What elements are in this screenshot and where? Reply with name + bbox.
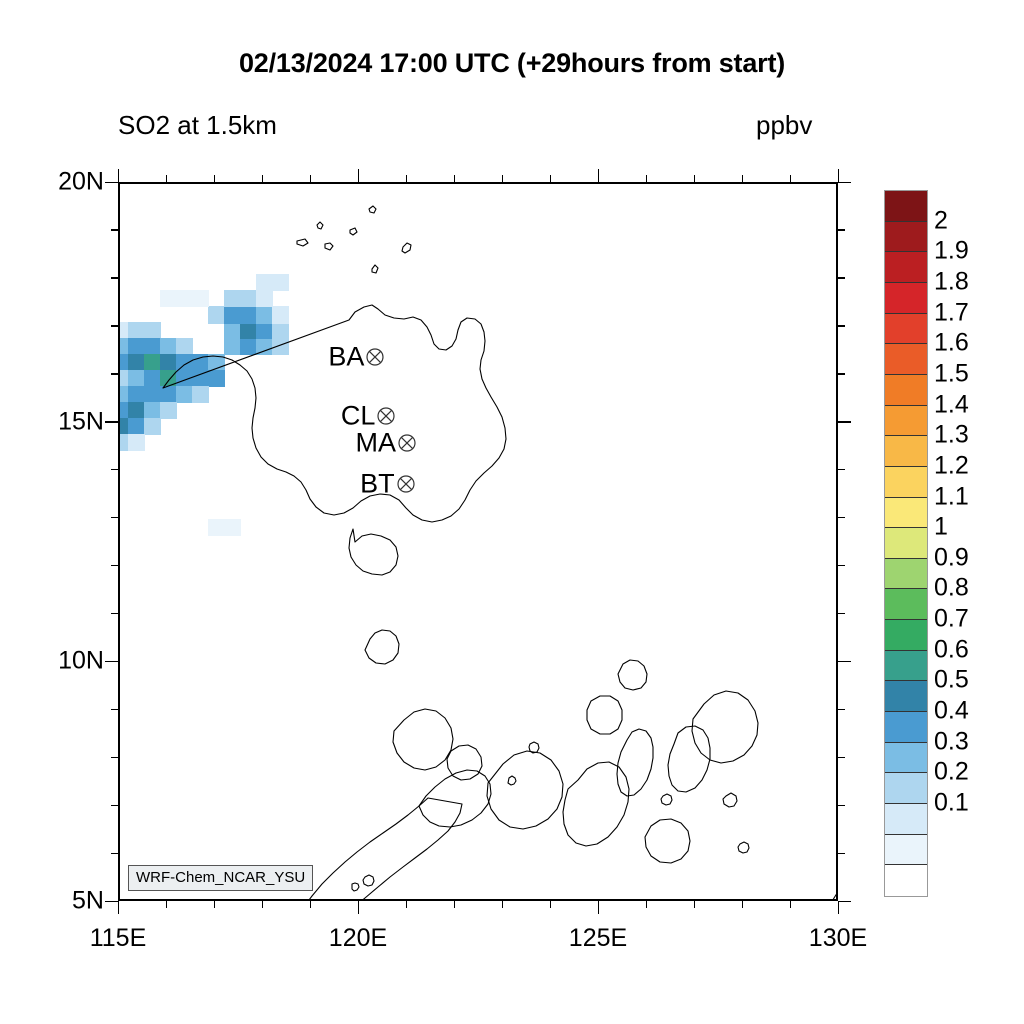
station-label-bt: BT xyxy=(360,468,395,499)
map-plot-area: WRF-Chem_NCAR_YSU BACLMABT xyxy=(118,182,838,901)
x-tick-label: 125E xyxy=(569,924,627,953)
axis-tick xyxy=(694,901,695,908)
axis-tick xyxy=(105,901,118,902)
axis-tick xyxy=(838,613,845,614)
axis-tick xyxy=(111,565,118,566)
colorbar-tick-label: 1.5 xyxy=(934,359,969,388)
axis-tick xyxy=(646,901,647,908)
station-marker-icon xyxy=(366,347,385,366)
axis-tick xyxy=(105,661,118,662)
x-tick-label: 130E xyxy=(809,924,867,953)
axis-tick xyxy=(406,175,407,182)
colorbar-tick-label: 1.6 xyxy=(934,329,969,358)
axis-tick xyxy=(358,169,359,182)
axis-tick xyxy=(111,709,118,710)
axis-tick xyxy=(838,182,851,183)
axis-tick xyxy=(262,175,263,182)
y-tick-label: 10N xyxy=(58,647,104,676)
axis-tick xyxy=(111,325,118,326)
y-tick-label: 20N xyxy=(58,168,104,197)
x-tick-label: 120E xyxy=(329,924,387,953)
axis-tick xyxy=(454,175,455,182)
axis-tick xyxy=(694,175,695,182)
station-label-ma: MA xyxy=(356,427,397,458)
colorbar-tick-label: 0.2 xyxy=(934,758,969,787)
y-axis-labels: 5N10N15N20N xyxy=(0,182,104,901)
station-label-ba: BA xyxy=(328,341,364,372)
units-label: ppbv xyxy=(756,110,812,141)
axis-tick xyxy=(111,373,118,374)
axis-tick xyxy=(111,277,118,278)
model-label-box: WRF-Chem_NCAR_YSU xyxy=(128,865,313,891)
axis-tick xyxy=(838,469,845,470)
axis-tick xyxy=(550,901,551,908)
axis-tick xyxy=(838,517,845,518)
axis-tick xyxy=(214,175,215,182)
colorbar-tick-label: 0.6 xyxy=(934,635,969,664)
colorbar-tick-label: 1.4 xyxy=(934,390,969,419)
colorbar-tick-label: 0.3 xyxy=(934,727,969,756)
y-tick-label: 15N xyxy=(58,407,104,436)
axis-tick xyxy=(111,517,118,518)
axis-tick xyxy=(111,757,118,758)
axis-tick xyxy=(838,421,851,422)
axis-tick xyxy=(790,175,791,182)
axis-tick xyxy=(838,853,845,854)
axis-tick xyxy=(502,175,503,182)
axis-tick xyxy=(838,229,845,230)
colorbar-tick-label: 0.5 xyxy=(934,666,969,695)
axis-tick xyxy=(166,901,167,908)
axis-tick xyxy=(838,757,845,758)
colorbar-tick-label: 2 xyxy=(934,206,948,235)
colorbar-tick-label: 1.1 xyxy=(934,482,969,511)
figure-title: 02/13/2024 17:00 UTC (+29hours from star… xyxy=(0,48,1024,79)
axis-tick xyxy=(310,901,311,908)
colorbar-tick-label: 1.9 xyxy=(934,237,969,266)
axis-tick xyxy=(838,325,845,326)
axis-tick xyxy=(111,805,118,806)
axis-tick xyxy=(838,277,845,278)
colorbar-tick-label: 0.4 xyxy=(934,697,969,726)
colorbar-tick-label: 1.3 xyxy=(934,421,969,450)
colorbar-tick-label: 0.8 xyxy=(934,574,969,603)
axis-tick xyxy=(598,169,599,182)
axis-tick xyxy=(838,661,851,662)
axis-tick xyxy=(111,469,118,470)
axis-tick xyxy=(838,373,845,374)
axis-tick xyxy=(598,901,599,914)
axis-tick xyxy=(550,175,551,182)
colorbar-tick-label: 0.9 xyxy=(934,543,969,572)
variable-label: SO2 at 1.5km xyxy=(118,110,277,141)
colorbar-tick-label: 0.1 xyxy=(934,789,969,818)
axis-tick xyxy=(105,182,118,183)
axis-tick xyxy=(838,901,851,902)
axis-tick xyxy=(262,901,263,908)
axis-tick xyxy=(502,901,503,908)
colorbar-tick-label: 1.2 xyxy=(934,451,969,480)
axis-tick xyxy=(111,853,118,854)
axis-tick xyxy=(111,613,118,614)
axis-tick xyxy=(646,175,647,182)
axis-tick xyxy=(310,175,311,182)
map-clip xyxy=(120,184,836,899)
x-tick-label: 115E xyxy=(90,924,147,953)
colorbar-labels: 21.91.81.71.61.51.41.31.21.110.90.80.70.… xyxy=(884,190,1024,895)
coastline-overlay xyxy=(120,184,836,899)
axis-tick xyxy=(790,901,791,908)
colorbar-tick-label: 1 xyxy=(934,513,948,542)
station-marker-icon xyxy=(377,407,396,426)
axis-tick xyxy=(838,901,839,914)
axis-tick xyxy=(118,901,119,914)
colorbar-tick-label: 1.8 xyxy=(934,267,969,296)
station-marker-icon xyxy=(396,474,415,493)
axis-tick xyxy=(838,805,845,806)
axis-tick xyxy=(838,709,845,710)
so2-forecast-figure: 02/13/2024 17:00 UTC (+29hours from star… xyxy=(0,0,1024,1024)
axis-tick xyxy=(105,421,118,422)
colorbar-tick-label: 0.7 xyxy=(934,605,969,634)
axis-tick xyxy=(742,175,743,182)
axis-tick xyxy=(406,901,407,908)
colorbar-tick-label: 1.7 xyxy=(934,298,969,327)
y-tick-label: 5N xyxy=(72,887,104,916)
axis-tick xyxy=(838,169,839,182)
axis-tick xyxy=(742,901,743,908)
station-marker-icon xyxy=(398,433,417,452)
axis-tick xyxy=(358,901,359,914)
axis-tick xyxy=(111,229,118,230)
axis-tick xyxy=(838,565,845,566)
axis-tick xyxy=(118,169,119,182)
axis-tick xyxy=(214,901,215,908)
axis-tick xyxy=(166,175,167,182)
axis-tick xyxy=(454,901,455,908)
